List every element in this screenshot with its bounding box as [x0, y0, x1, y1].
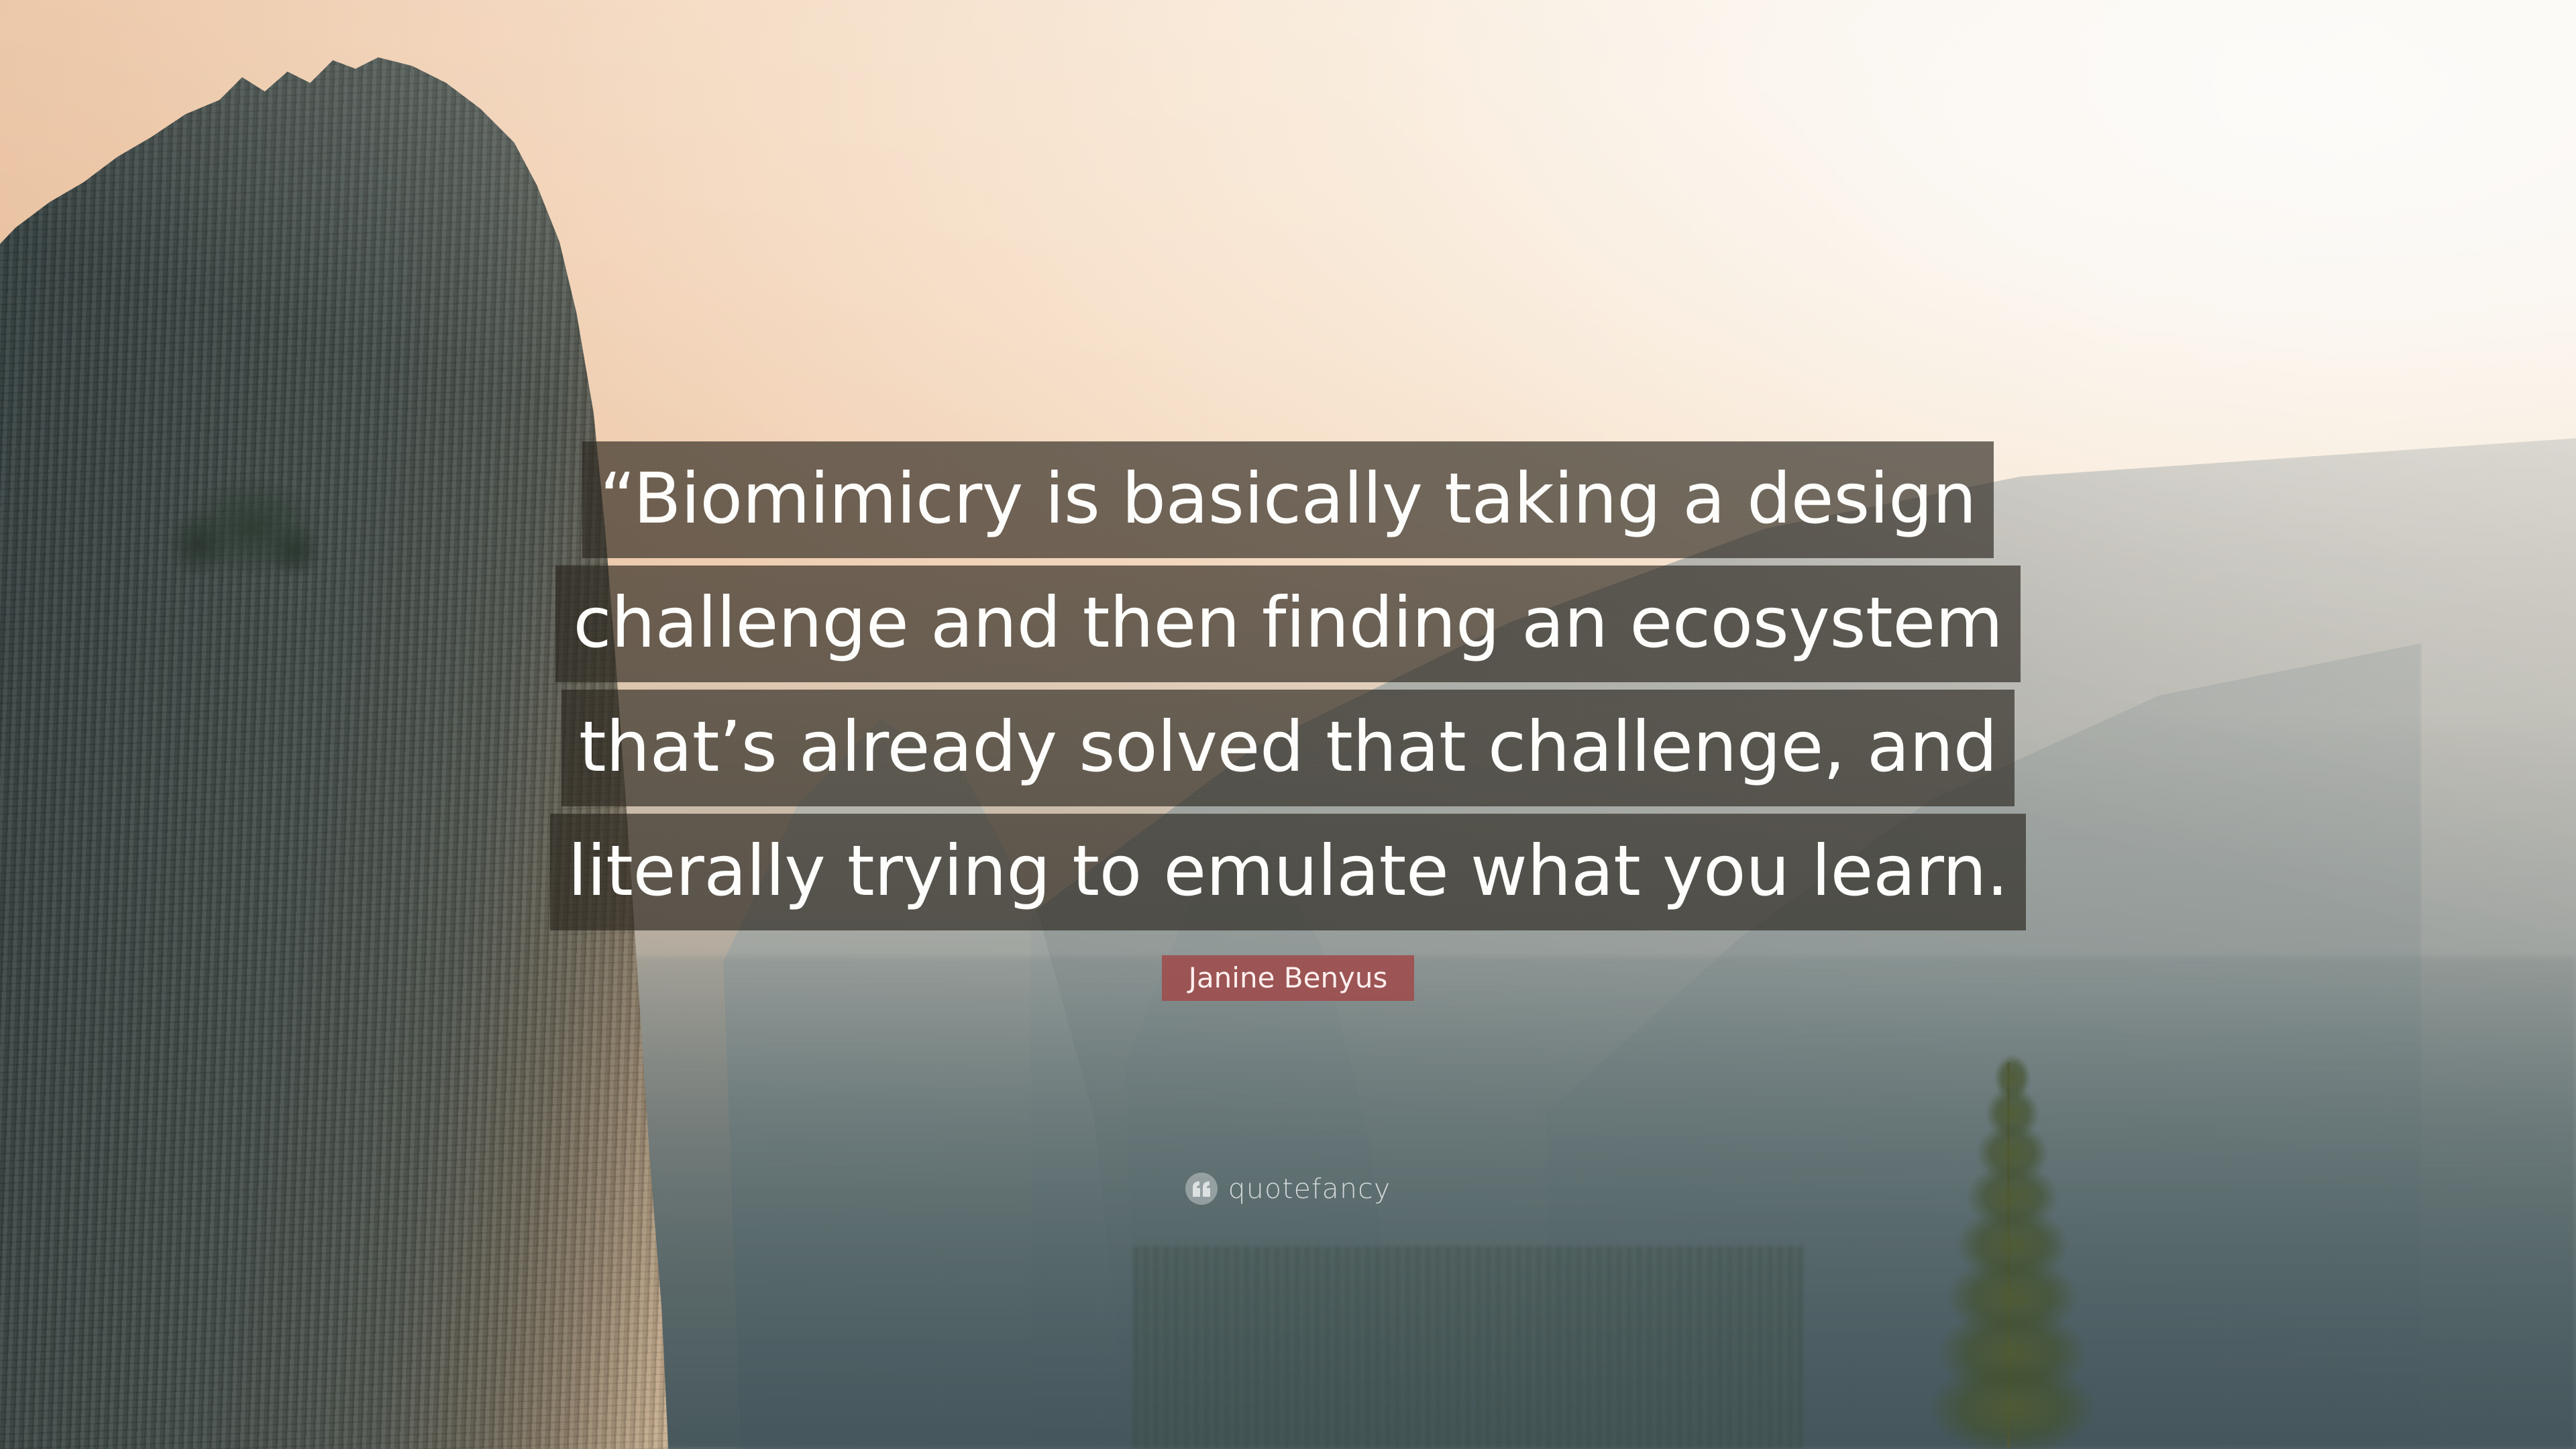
author-name-badge: Janine Benyus	[1162, 955, 1415, 1001]
quote-line: that’s already solved that challenge, an…	[561, 690, 2015, 806]
quote-mark-icon	[1185, 1173, 1218, 1205]
quote-line: “Biomimicry is basically taking a design	[582, 441, 1994, 558]
quote-text-block: “Biomimicry is basically taking a design…	[0, 441, 2576, 938]
quotefancy-logo[interactable]: quotefancy	[0, 1173, 2576, 1205]
author-attribution: Janine Benyus	[0, 955, 2576, 1001]
quote-line: challenge and then finding an ecosystem	[555, 566, 2020, 682]
quotefancy-wordmark: quotefancy	[1228, 1175, 1391, 1203]
quote-poster: “Biomimicry is basically taking a design…	[0, 0, 2576, 1449]
quote-line: literally trying to emulate what you lea…	[550, 814, 2025, 930]
overlay-content: “Biomimicry is basically taking a design…	[0, 0, 2576, 1449]
